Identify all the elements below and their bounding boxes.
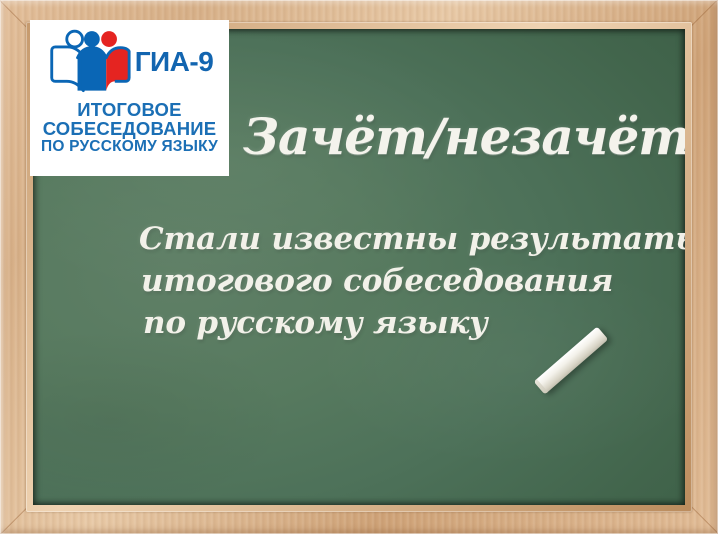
chalk-heading: Зачёт/незачёт — [243, 112, 685, 162]
logo-subtitle-line-3: ПО РУССКОМУ ЯЗЫКУ — [41, 139, 218, 155]
gia-logo-card: ГИА-9 ИТОГОВОЕ СОБЕСЕДОВАНИЕ ПО РУССКОМУ… — [30, 20, 229, 176]
logo-subtitle-line-2: СОБЕСЕДОВАНИЕ — [41, 119, 218, 138]
chalk-body-line-2: итогового собеседования — [141, 260, 685, 302]
gia-figures-emblem-icon — [46, 29, 132, 95]
logo-header-row: ГИА-9 — [30, 26, 229, 98]
logo-subtitle-line-1: ИТОГОВОЕ — [41, 100, 218, 119]
logo-wordmark: ГИА-9 — [135, 48, 214, 76]
chalk-body-text: Стали известны результаты итогового собе… — [139, 218, 685, 344]
chalk-body-line-1: Стали известны результаты — [139, 218, 685, 260]
chalkboard-poster: Зачёт/незачёт Стали известны результаты … — [0, 0, 718, 534]
logo-subtitle: ИТОГОВОЕ СОБЕСЕДОВАНИЕ ПО РУССКОМУ ЯЗЫКУ — [41, 100, 218, 156]
